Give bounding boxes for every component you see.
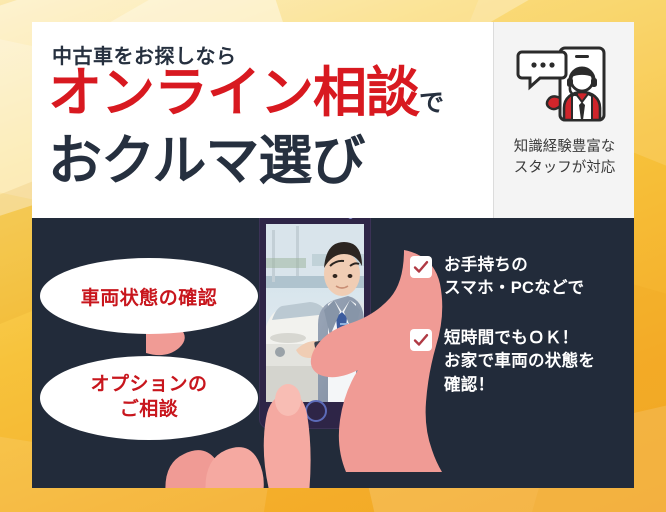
pill-label: 車両状態の確認: [81, 283, 218, 310]
checklist-line-3: 確認！: [444, 376, 494, 394]
checklist-text: 短時間でもＯＫ！ お家で車両の状態を 確認！: [444, 327, 595, 397]
checklist-line-1: 短時間でもＯＫ！: [444, 329, 578, 347]
staff-sidebar: 知識経験豊富な スタッフが対応: [493, 22, 634, 218]
feature-panel: 車両状態の確認 オプションの ご相談 お手持ちの スマホ・PCなどで: [32, 218, 634, 488]
staff-caption-line-1: 知識経験豊富な: [494, 137, 635, 158]
check-icon: [410, 256, 432, 278]
headline-panel: 中古車をお探しなら オンライン相談で おクルマ選び: [32, 22, 493, 218]
headline-red-text: オンライン相談: [48, 63, 419, 123]
operator-headset-icon: [516, 42, 612, 128]
pill-option-consultation[interactable]: オプションの ご相談: [40, 356, 258, 440]
checklist-line-2: スマホ・PCなどで: [444, 279, 584, 297]
checklist-line-2: お家で車両の状態を: [444, 352, 595, 370]
staff-caption: 知識経験豊富な スタッフが対応: [494, 137, 635, 179]
benefit-checklist: お手持ちの スマホ・PCなどで 短時間でもＯＫ！ お家で車両の状態を 確認！: [410, 254, 620, 423]
checklist-text: お手持ちの スマホ・PCなどで: [444, 254, 584, 301]
pill-vehicle-condition[interactable]: 車両状態の確認: [40, 258, 258, 334]
phone-camera-icon: [348, 218, 353, 219]
headline-line-2: おクルマ選び: [48, 134, 364, 188]
staff-caption-line-2: スタッフが対応: [494, 158, 635, 179]
headline-particle: で: [419, 89, 444, 117]
pill-label-line-1: オプションの: [90, 374, 207, 395]
headline-line-1: オンライン相談で: [48, 66, 444, 120]
pill-label-line-2: ご相談: [120, 399, 179, 420]
checklist-item: 短時間でもＯＫ！ お家で車両の状態を 確認！: [410, 327, 620, 397]
checklist-line-1: お手持ちの: [444, 256, 528, 274]
checklist-item: お手持ちの スマホ・PCなどで: [410, 254, 620, 301]
check-icon: [410, 329, 432, 351]
banner-root: 中古車をお探しなら オンライン相談で おクルマ選び: [0, 0, 666, 512]
pill-label: オプションの ご相談: [90, 373, 207, 422]
